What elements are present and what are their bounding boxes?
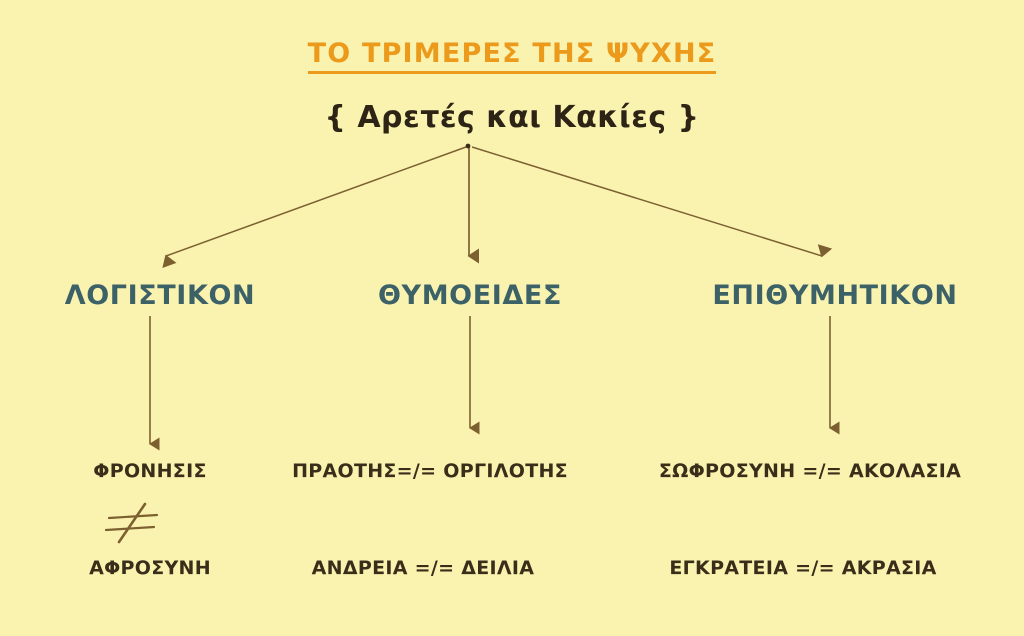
edge-root-to-epithymitikon: [472, 147, 822, 256]
pair-row-thymoeides-a: ΠΡΑΟΤΗΣ=/= ΟΡΓΙΛΟΤΗΣ: [265, 460, 595, 482]
not-equal-icon: [95, 500, 185, 548]
page-title-text: ΤΟ ΤΡΙΜΕΡΕΣ ΤΗΣ ΨΥΧΗΣ: [308, 38, 717, 74]
pair-row-logistikon-b: ΑΦΡΟΣΥΝΗ: [25, 557, 275, 579]
psyche-tripartite-diagram: ΤΟ ΤΡΙΜΕΡΕΣ ΤΗΣ ΨΥΧΗΣ { Αρετές και Κακίε…: [0, 0, 1024, 636]
pair-row-thymoeides-b: ΑΝΔΡΕΙΑ =/= ΔΕΙΛΙΑ: [258, 557, 588, 579]
page-subtitle: { Αρετές και Κακίες }: [0, 100, 1024, 135]
pair-row-epithymitikon-a: ΣΩΦΡΟΣΥΝΗ =/= ΑΚΟΛΑΣΙΑ: [615, 460, 1005, 482]
part-label-epithymitikon: ΕΠΙΘΥΜΗΤΙΚΟΝ: [690, 280, 980, 311]
part-label-thymoeides: ΘΥΜΟΕΙΔΕΣ: [340, 280, 600, 311]
page-title: ΤΟ ΤΡΙΜΕΡΕΣ ΤΗΣ ΨΥΧΗΣ: [0, 38, 1024, 74]
pair-row-epithymitikon-b: ΕΓΚΡΑΤΕΙΑ =/= ΑΚΡΑΣΙΑ: [608, 557, 998, 579]
pair-row-logistikon-a: ΦΡΟΝΗΣΙΣ: [25, 460, 275, 482]
part-label-logistikon: ΛΟΓΙΣΤΙΚΟΝ: [20, 280, 300, 311]
edge-root-to-logistikon: [166, 147, 466, 256]
hub-node: [466, 144, 471, 149]
